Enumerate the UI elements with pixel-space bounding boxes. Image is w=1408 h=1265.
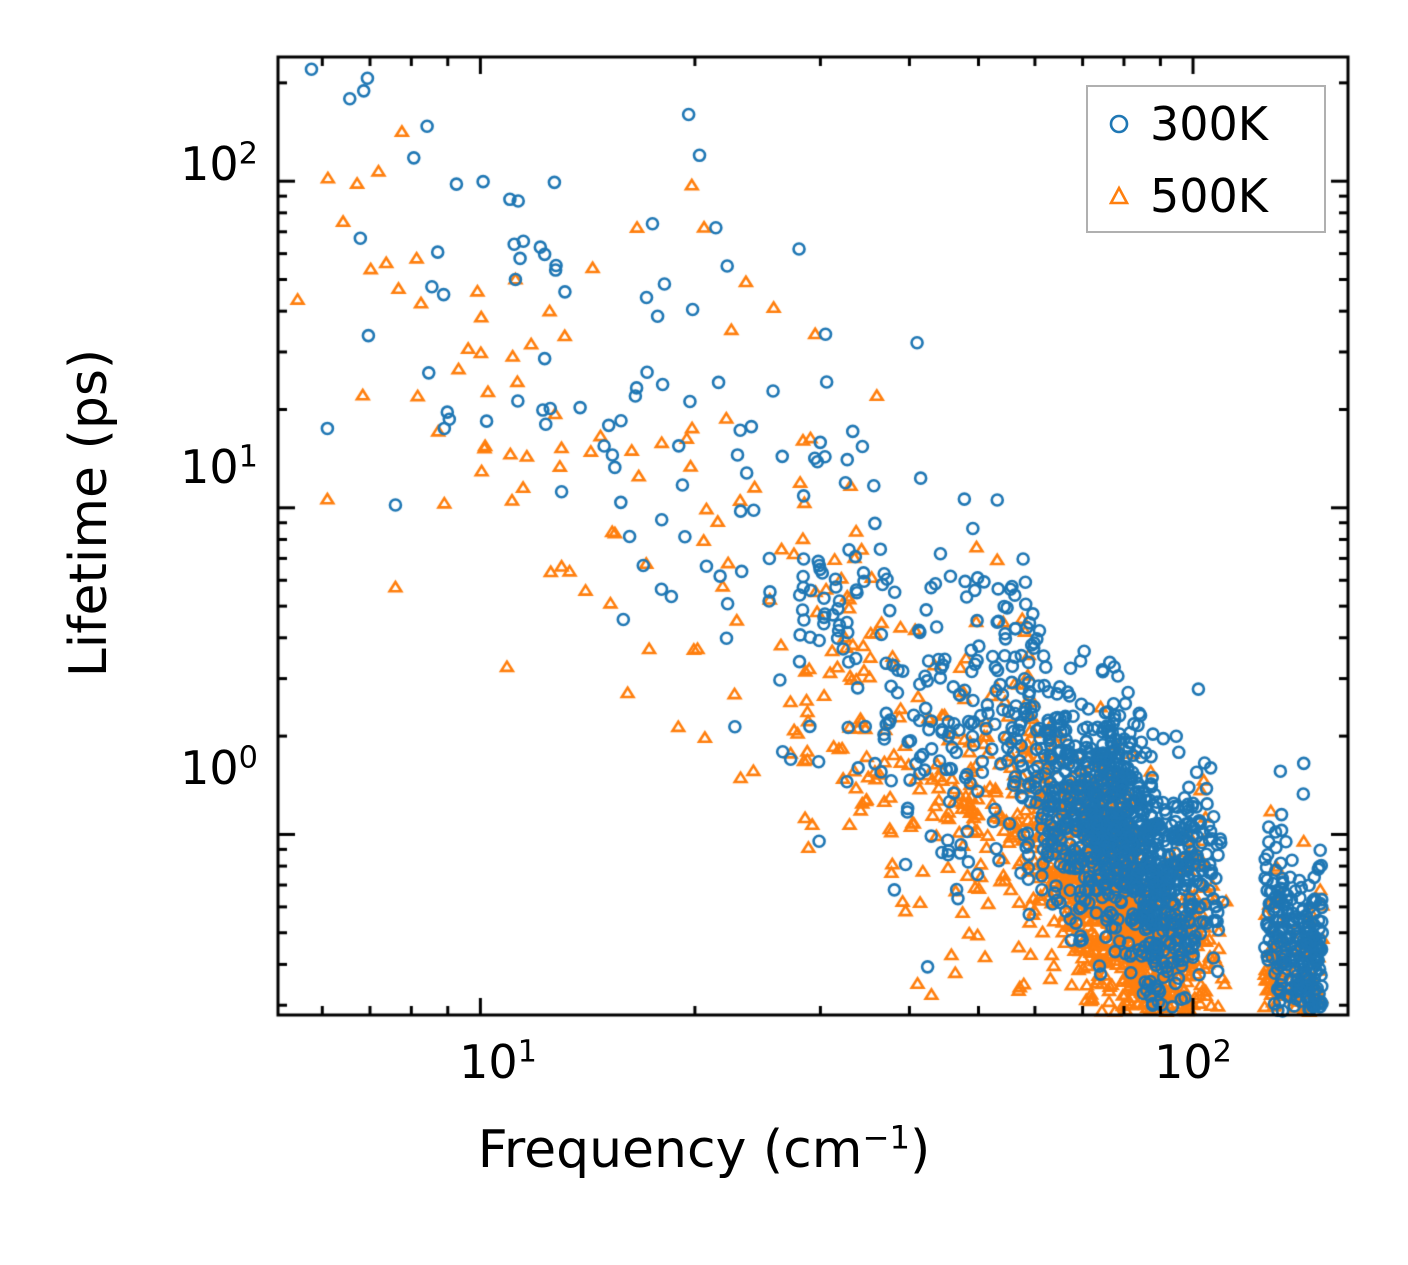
x-tick-label-10: 101: [436, 1035, 560, 1089]
y-tick-label-1: 100: [180, 741, 258, 795]
y-axis-label-container: Lifetime (ps): [54, 0, 124, 1048]
legend: 300K 500K: [1086, 85, 1326, 233]
x-axis-label-exponent: −1: [862, 1119, 910, 1157]
legend-item-300k: 300K: [1088, 87, 1328, 161]
y-tick-label-100: 102: [180, 137, 258, 191]
legend-triangle-icon: [1088, 182, 1150, 210]
x-axis-label-text: Frequency (cm: [478, 1120, 863, 1180]
legend-item-500k: 500K: [1088, 159, 1328, 233]
x-axis-label-tail: ): [910, 1120, 930, 1180]
legend-label-300k: 300K: [1150, 97, 1268, 151]
legend-label-500k: 500K: [1150, 169, 1268, 223]
legend-circle-icon: [1088, 110, 1150, 138]
x-tick-label-100: 102: [1131, 1035, 1255, 1089]
y-tick-label-10: 101: [180, 440, 258, 494]
y-axis-label: Lifetime (ps): [59, 349, 119, 677]
x-axis-label: Frequency (cm−1): [0, 1120, 1408, 1180]
phonon-lifetime-scatter-figure: 102 101 100 101 102 Frequency (cm−1) Lif…: [0, 0, 1408, 1265]
